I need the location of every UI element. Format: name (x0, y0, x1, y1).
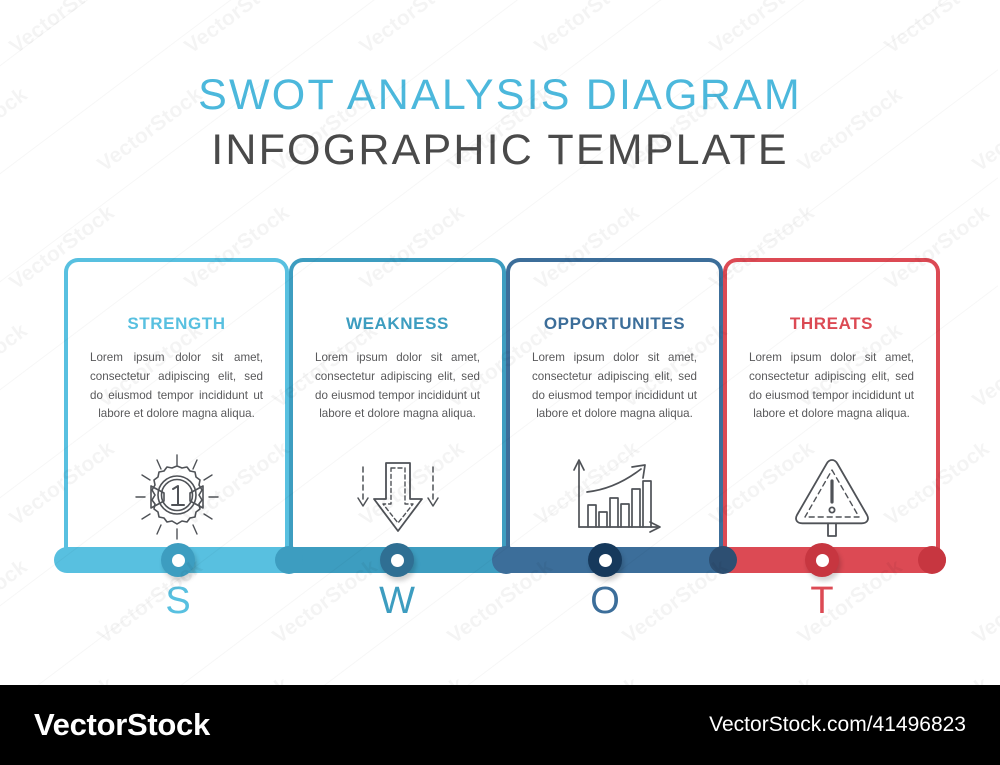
swot-timeline (0, 547, 1000, 573)
swot-letters: S W O T (0, 580, 1000, 630)
timeline-dot-boundary-2 (492, 546, 520, 574)
warning-triangle-icon (727, 447, 936, 547)
swot-card-weakness[interactable]: WEAKNESS Lorem ipsum dolor sit amet, con… (289, 258, 506, 563)
card-content-strength: STRENGTH Lorem ipsum dolor sit amet, con… (68, 314, 285, 424)
timeline-letter-t: T (792, 580, 852, 623)
timeline-dot-end (918, 546, 946, 574)
card-content-opportunities: OPPORTUNITES Lorem ipsum dolor sit amet,… (510, 314, 719, 424)
page-subtitle: INFOGRAPHIC TEMPLATE (0, 125, 1000, 176)
timeline-marker-strength[interactable] (161, 543, 195, 577)
timeline-letter-s: S (148, 580, 208, 623)
footer-bar: VectorStock VectorStock.com/41496823 (0, 685, 1000, 765)
vectorstock-url: VectorStock.com/41496823 (709, 713, 966, 737)
medal-award-icon (68, 447, 285, 547)
swot-card-strength[interactable]: STRENGTH Lorem ipsum dolor sit amet, con… (64, 258, 289, 563)
timeline-marker-opportunities[interactable] (588, 543, 622, 577)
swot-cards: STRENGTH Lorem ipsum dolor sit amet, con… (0, 258, 1000, 563)
card-heading-opportunities: OPPORTUNITES (526, 314, 703, 334)
timeline-letter-w: W (367, 580, 427, 623)
card-heading-weakness: WEAKNESS (309, 314, 486, 334)
card-heading-strength: STRENGTH (84, 314, 269, 334)
card-body-opportunities: Lorem ipsum dolor sit amet, consectetur … (526, 349, 703, 424)
swot-card-opportunities[interactable]: OPPORTUNITES Lorem ipsum dolor sit amet,… (506, 258, 723, 563)
timeline-marker-threats[interactable] (805, 543, 839, 577)
growth-chart-icon (510, 447, 719, 547)
timeline-marker-weakness[interactable] (380, 543, 414, 577)
timeline-letter-o: O (575, 580, 635, 623)
card-heading-threats: THREATS (743, 314, 920, 334)
swot-card-threats[interactable]: THREATS Lorem ipsum dolor sit amet, cons… (723, 258, 940, 563)
down-arrow-icon (293, 447, 502, 547)
card-body-strength: Lorem ipsum dolor sit amet, consectetur … (84, 349, 269, 424)
vectorstock-logo: VectorStock (34, 707, 210, 743)
card-body-weakness: Lorem ipsum dolor sit amet, consectetur … (309, 349, 486, 424)
card-content-weakness: WEAKNESS Lorem ipsum dolor sit amet, con… (293, 314, 502, 424)
page-title: SWOT ANALYSIS DIAGRAM (0, 70, 1000, 121)
timeline-dot-boundary-1 (275, 546, 303, 574)
card-body-threats: Lorem ipsum dolor sit amet, consectetur … (743, 349, 920, 424)
timeline-dot-boundary-3 (709, 546, 737, 574)
artboard: SWOT ANALYSIS DIAGRAM INFOGRAPHIC TEMPLA… (0, 0, 1000, 685)
title-block: SWOT ANALYSIS DIAGRAM INFOGRAPHIC TEMPLA… (0, 70, 1000, 175)
card-content-threats: THREATS Lorem ipsum dolor sit amet, cons… (727, 314, 936, 424)
